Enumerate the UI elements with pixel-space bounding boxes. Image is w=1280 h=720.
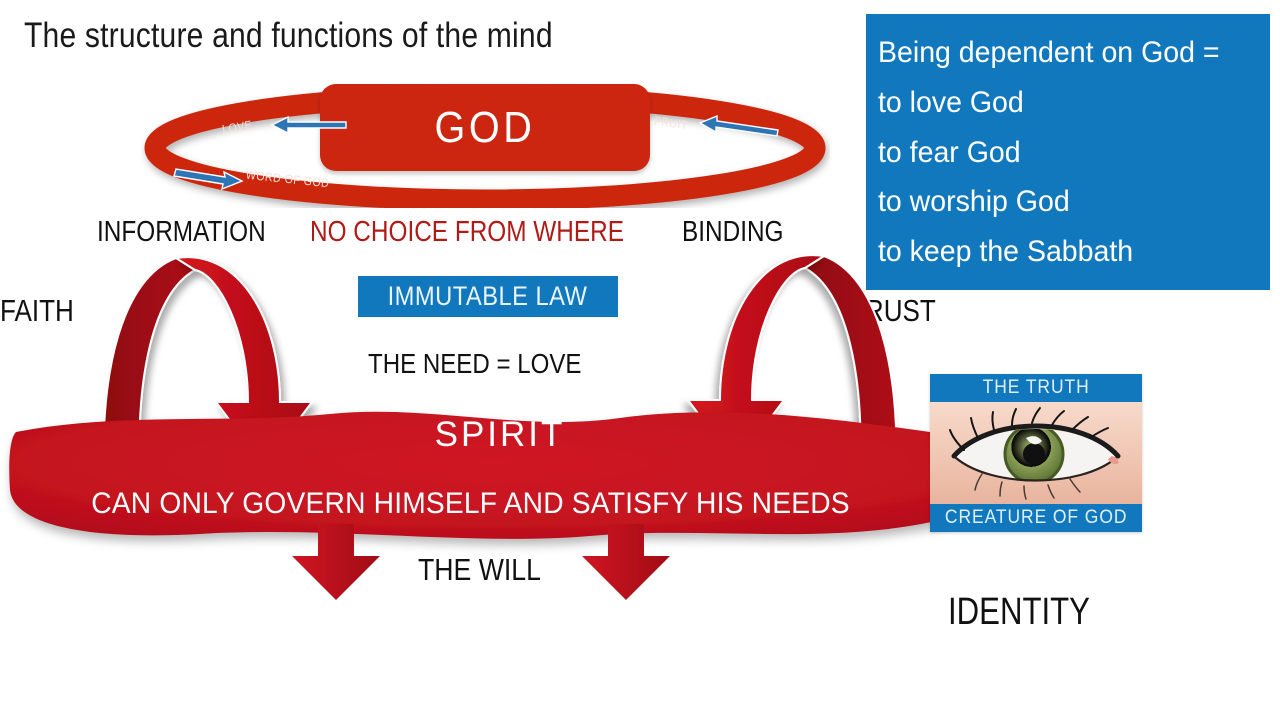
eye-icon xyxy=(930,402,1142,504)
dependence-on-god-list: Being dependent on God = to love God to … xyxy=(866,14,1270,277)
dependence-on-god-box: Being dependent on God = to love God to … xyxy=(866,14,1270,290)
label-identity: IDENTITY xyxy=(948,591,1090,634)
eye-card-top-caption-label: THE TRUTH xyxy=(982,377,1089,399)
eye-card-top-caption: THE TRUTH xyxy=(930,374,1142,402)
slide-canvas: The structure and functions of the mind … xyxy=(0,0,1280,720)
god-label: GOD xyxy=(337,84,634,171)
god-box: GOD xyxy=(320,84,650,171)
list-item: Being dependent on God = xyxy=(878,28,1250,78)
label-binding: BINDING xyxy=(682,216,784,249)
list-item: to keep the Sabbath xyxy=(878,227,1250,277)
list-item: to worship God xyxy=(878,177,1250,227)
immutable-law-label: IMMUTABLE LAW xyxy=(388,281,588,312)
page-title: The structure and functions of the mind xyxy=(24,16,553,56)
eye-photo xyxy=(930,402,1142,504)
god-ring-group: GOD LOVE WORD OF GOD FRUIT xyxy=(140,72,830,208)
down-arrow-icon xyxy=(288,524,384,602)
label-the-will: THE WILL xyxy=(418,552,541,588)
label-information: INFORMATION xyxy=(97,216,266,249)
left-arrow-icon xyxy=(258,114,348,136)
list-item: to fear God xyxy=(878,128,1250,178)
spirit-cloud-shape xyxy=(0,398,1000,558)
eye-card-bottom-caption-label: CREATURE OF GOD xyxy=(945,507,1127,529)
label-no-choice-from-where: NO CHOICE FROM WHERE xyxy=(310,216,624,249)
label-the-need: THE NEED = LOVE xyxy=(368,348,581,380)
immutable-law-badge: IMMUTABLE LAW xyxy=(358,276,618,317)
down-arrow-icon xyxy=(578,524,674,602)
list-item: to love God xyxy=(878,78,1250,128)
truth-eye-card: THE TRUTH xyxy=(930,374,1142,532)
right-arrow-icon xyxy=(172,166,254,190)
eye-card-bottom-caption: CREATURE OF GOD xyxy=(930,504,1142,532)
label-faith: FAITH xyxy=(0,293,74,329)
left-arrow-icon xyxy=(690,114,782,140)
